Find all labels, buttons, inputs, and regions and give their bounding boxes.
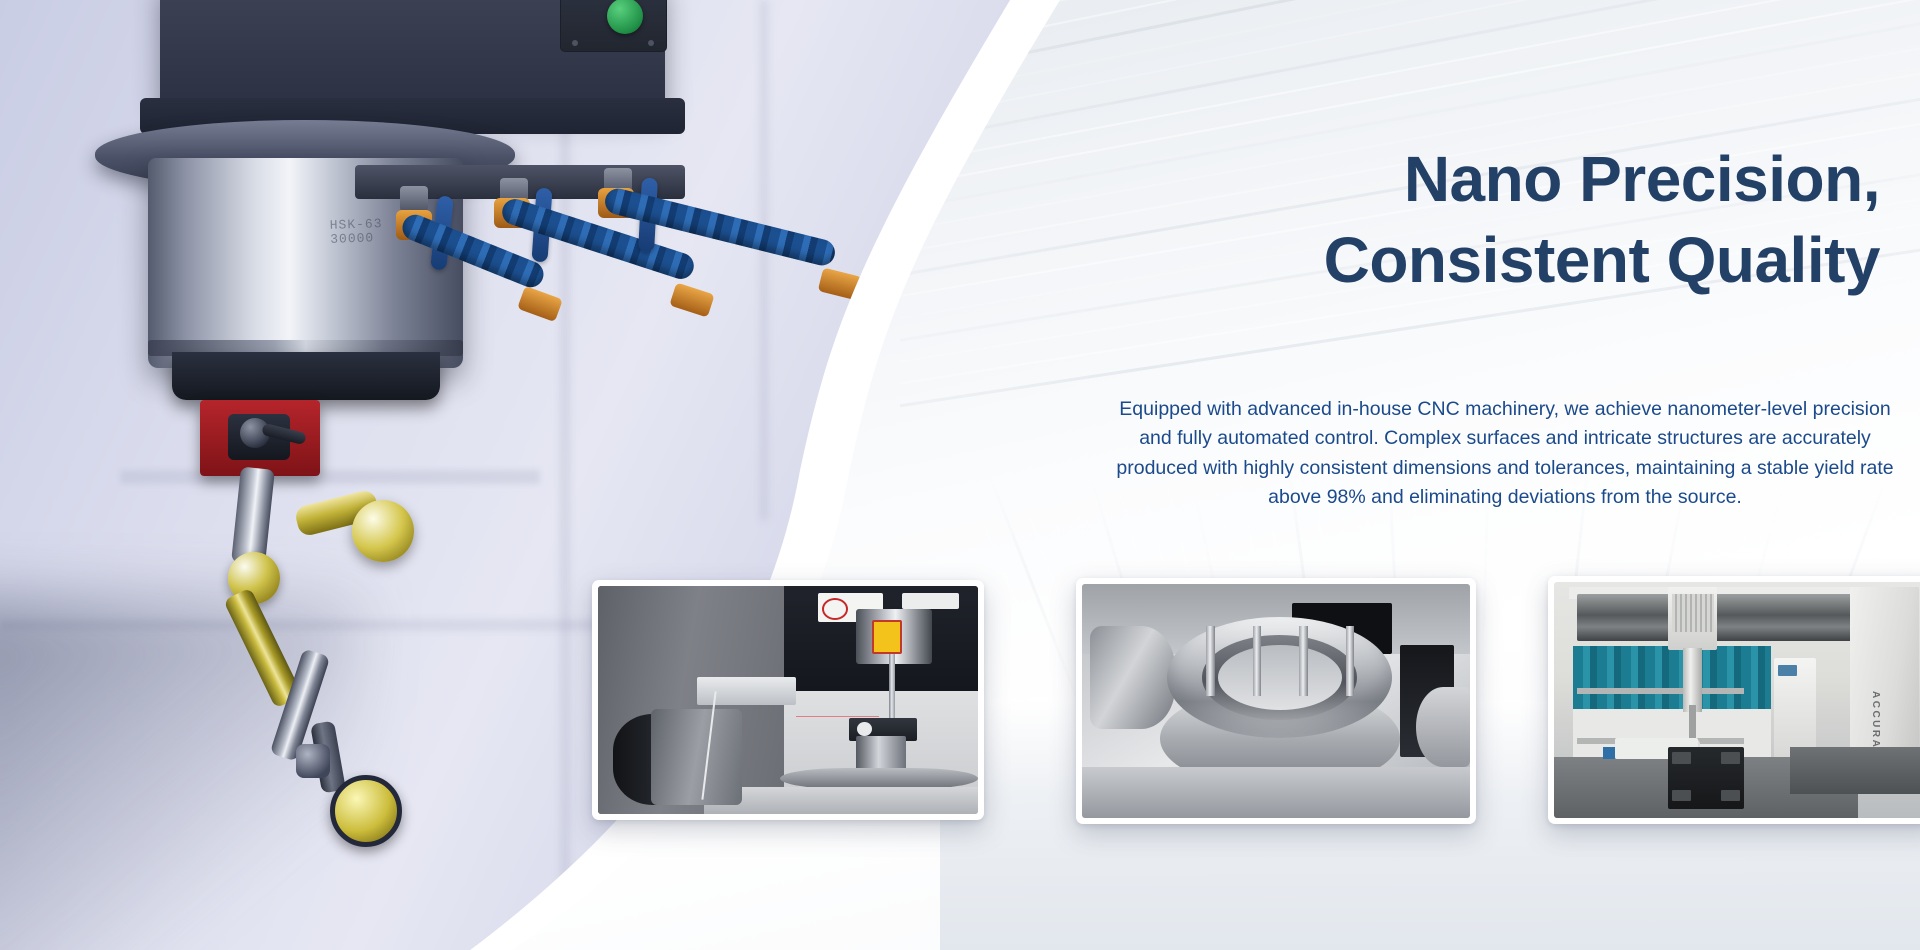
rotary-chuck bbox=[1090, 626, 1175, 729]
screw-icon bbox=[572, 40, 578, 46]
workpiece-pad bbox=[1672, 752, 1691, 764]
cmm-brand-label: ACCURA bbox=[1870, 691, 1881, 749]
thumbnail-image bbox=[598, 586, 978, 814]
thumbnail-cmm[interactable]: ACCURA bbox=[1548, 576, 1920, 824]
thumbnail-aluminium-ring[interactable] bbox=[1076, 578, 1476, 824]
hero-banner: HSK-6330000 bbox=[0, 0, 1920, 950]
headline-line-2: Consistent Quality bbox=[1000, 220, 1880, 301]
ring-post bbox=[1346, 626, 1355, 696]
drum-housing bbox=[651, 709, 742, 805]
workpiece-pad bbox=[1721, 752, 1740, 764]
fixture-marker bbox=[1603, 747, 1614, 759]
machine-base bbox=[704, 787, 978, 814]
dial-indicator-icon bbox=[330, 775, 402, 847]
rail bbox=[1577, 688, 1744, 694]
page-title: Nano Precision, Consistent Quality bbox=[1000, 139, 1880, 300]
spindle-nose bbox=[172, 352, 440, 400]
thumbnail-image: ACCURA bbox=[1554, 582, 1920, 818]
machine-plinth bbox=[1790, 747, 1920, 794]
arm-clamp-nut bbox=[296, 744, 330, 778]
quill-shaft bbox=[889, 654, 895, 727]
cmm-probe bbox=[1689, 705, 1697, 743]
wall-seam bbox=[760, 0, 768, 520]
wall-seam bbox=[120, 470, 540, 484]
carriage-grill bbox=[1672, 594, 1714, 632]
cabinet-screen bbox=[1778, 665, 1797, 677]
sensor-module bbox=[697, 677, 796, 704]
ring-post bbox=[1206, 626, 1215, 696]
screw-icon bbox=[648, 40, 654, 46]
thumbnail-jig-grinder[interactable] bbox=[592, 580, 984, 820]
tailstock-plate bbox=[1416, 687, 1470, 767]
laser-line bbox=[796, 716, 880, 717]
ring-post bbox=[1299, 626, 1308, 696]
ring-inner-face bbox=[1218, 645, 1342, 711]
teal-curtain bbox=[1573, 646, 1771, 710]
nameplate-icon bbox=[902, 593, 959, 609]
coolant-valve bbox=[400, 186, 428, 212]
headline-line-1: Nano Precision, bbox=[1404, 143, 1880, 215]
cmm-bridge-beam bbox=[1577, 594, 1881, 641]
caution-label-icon bbox=[872, 620, 903, 654]
hero-description: Equipped with advanced in-house CNC mach… bbox=[1105, 395, 1905, 514]
workpiece-pad bbox=[1672, 790, 1691, 802]
machine-bed bbox=[1082, 767, 1470, 818]
cmm-z-ram bbox=[1683, 648, 1702, 712]
thumbnail-image bbox=[1082, 584, 1470, 818]
workpiece-pad bbox=[1721, 790, 1740, 802]
indicator-arm-joint bbox=[352, 500, 414, 562]
ring-post bbox=[1253, 626, 1262, 696]
spindle-engraving: HSK-6330000 bbox=[330, 217, 384, 247]
